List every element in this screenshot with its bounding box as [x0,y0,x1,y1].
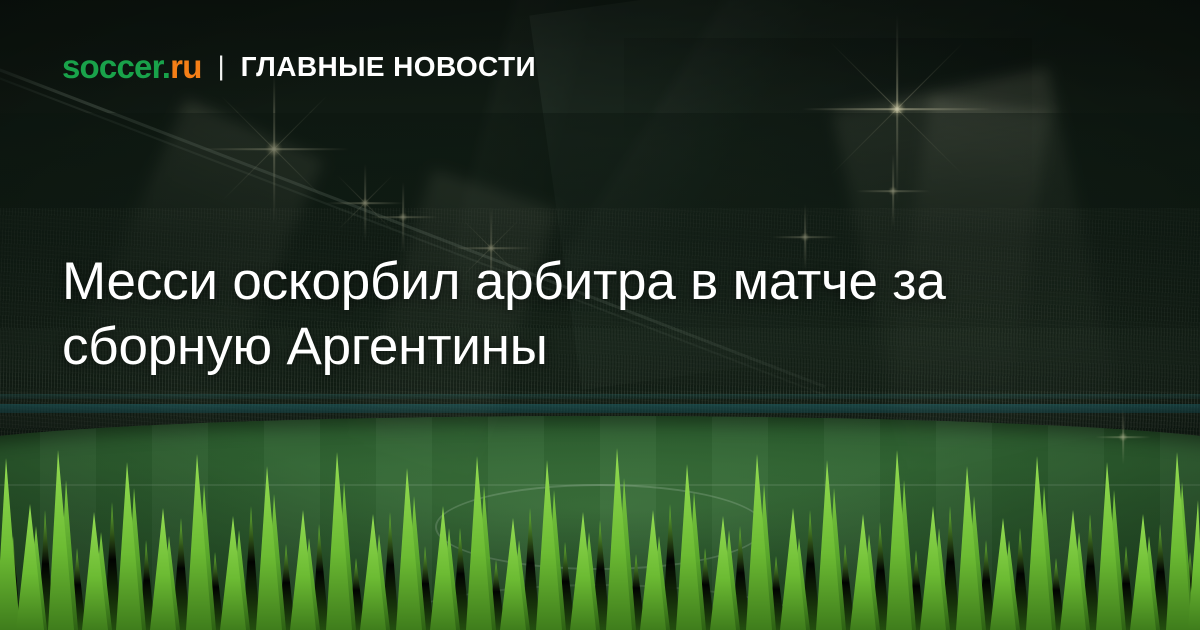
header-kicker: ГЛАВНЫЕ НОВОСТИ [241,53,536,81]
news-share-card: soccer.ru | ГЛАВНЫЕ НОВОСТИ Месси оскорб… [0,0,1200,630]
header-separator: | [218,53,225,80]
logo-word-soccer: soccer [62,48,162,85]
logo-dot: . [162,48,170,85]
site-logo[interactable]: soccer.ru [62,50,202,83]
article-headline: Месси оскорбил арбитра в матче за сборну… [62,250,1122,379]
site-header: soccer.ru | ГЛАВНЫЕ НОВОСТИ [62,50,536,83]
logo-word-ru: ru [170,48,201,85]
